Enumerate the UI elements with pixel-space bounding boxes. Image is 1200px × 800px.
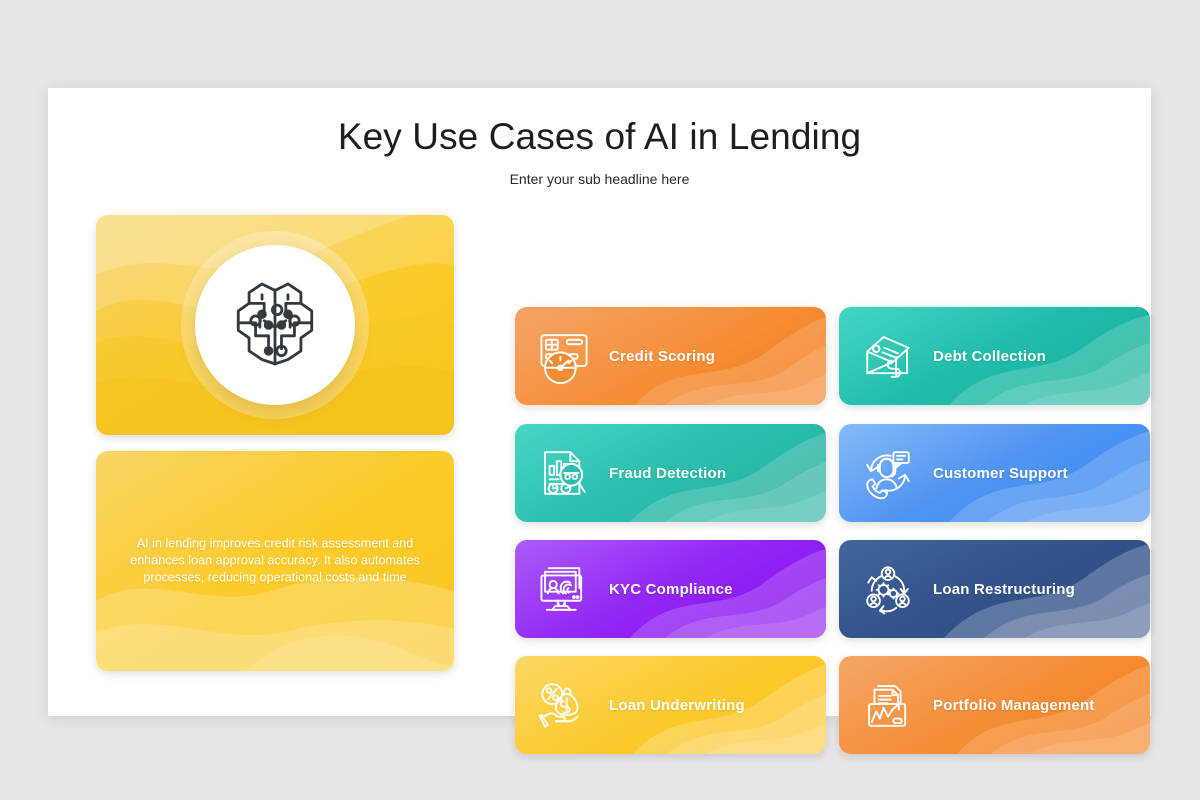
feature-label: Credit Scoring	[609, 348, 715, 365]
feature-card-kyc-compliance[interactable]: KYC Compliance	[515, 540, 826, 638]
hero-icon-circle	[195, 245, 355, 405]
hand-money-bag-percent-icon	[533, 674, 595, 736]
page-title: Key Use Cases of AI in Lending	[48, 116, 1151, 158]
ai-brain-circuit-icon	[221, 271, 329, 379]
feature-label: Customer Support	[933, 465, 1068, 482]
feature-card-loan-underwriting[interactable]: Loan Underwriting	[515, 656, 826, 754]
feature-card-portfolio-management[interactable]: Portfolio Management	[839, 656, 1150, 754]
feature-label: Loan Restructuring	[933, 581, 1075, 598]
feature-card-loan-restructuring[interactable]: Loan Restructuring	[839, 540, 1150, 638]
credit-card-gauge-icon	[533, 325, 595, 387]
headset-agent-chat-icon	[857, 442, 919, 504]
feature-card-debt-collection[interactable]: Debt Collection	[839, 307, 1150, 405]
feature-label: Loan Underwriting	[609, 697, 745, 714]
card-dollar-icon	[857, 325, 919, 387]
monitor-id-fingerprint-icon	[533, 558, 595, 620]
users-gears-cycle-icon	[857, 558, 919, 620]
page-subtitle: Enter your sub headline here	[48, 171, 1151, 187]
description-text: AI in lending improves credit risk asses…	[118, 536, 432, 587]
description-card[interactable]: AI in lending improves credit risk asses…	[96, 451, 454, 671]
feature-card-customer-support[interactable]: Customer Support	[839, 424, 1150, 522]
portfolio-chart-documents-icon	[857, 674, 919, 736]
feature-card-credit-scoring[interactable]: Credit Scoring	[515, 307, 826, 405]
feature-label: KYC Compliance	[609, 581, 733, 598]
hero-brain-card[interactable]	[96, 215, 454, 435]
feature-label: Fraud Detection	[609, 465, 726, 482]
report-magnifier-mask-icon	[533, 442, 595, 504]
feature-card-fraud-detection[interactable]: Fraud Detection	[515, 424, 826, 522]
feature-label: Portfolio Management	[933, 697, 1095, 714]
feature-label: Debt Collection	[933, 348, 1046, 365]
slide-canvas: Key Use Cases of AI in Lending Enter you…	[48, 88, 1151, 716]
